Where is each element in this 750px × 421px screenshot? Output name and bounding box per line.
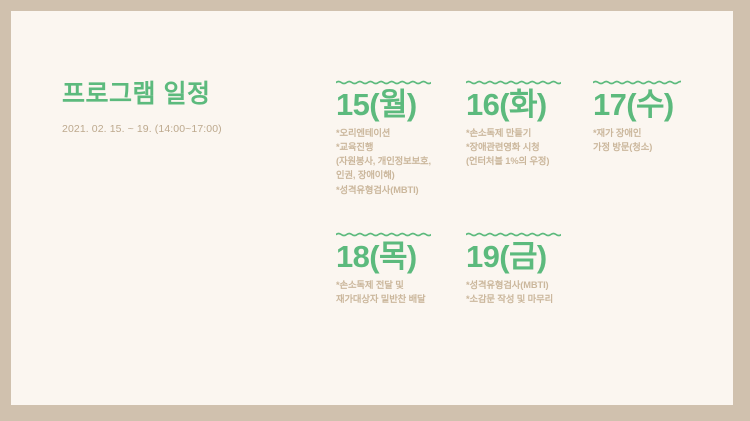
day-activity-list: *재가 장애인가정 방문(청소) [593, 126, 681, 154]
day-heading: 19(금) [466, 240, 561, 275]
day-activity-list: *오리엔테이션*교육진행(자원봉사, 개인정보보호,인권, 장애이해)*성격유형… [336, 126, 431, 197]
wave-divider-icon [466, 78, 561, 87]
slide-canvas: 프로그램 일정 2021. 02. 15. ~ 19. (14:00~17:00… [0, 0, 750, 421]
wave-divider-icon [466, 230, 561, 239]
day-activity-list: *성격유형검사(MBTI)*소감문 작성 및 마무리 [466, 278, 561, 306]
day-heading: 15(월) [336, 88, 431, 123]
day-heading: 18(목) [336, 240, 431, 275]
day-activity-line: *재가 장애인 [593, 126, 681, 140]
day-activity-line: (언터처블 1%의 우정) [466, 154, 561, 168]
day-heading: 17(수) [593, 88, 681, 123]
day-card-19: 19(금) *성격유형검사(MBTI)*소감문 작성 및 마무리 [466, 230, 561, 306]
day-card-17: 17(수) *재가 장애인가정 방문(청소) [593, 78, 681, 154]
day-activity-line: 인권, 장애이해) [336, 168, 431, 182]
day-activity-line: *장애관련영화 시청 [466, 140, 561, 154]
wave-divider-icon [336, 78, 431, 87]
day-card-18: 18(목) *손소독제 전달 및재가대상자 밑반찬 배달 [336, 230, 431, 306]
day-activity-line: *손소독제 전달 및 [336, 278, 431, 292]
wave-divider-icon [336, 230, 431, 239]
schedule-grid: 15(월) *오리엔테이션*교육진행(자원봉사, 개인정보보호,인권, 장애이해… [11, 11, 733, 405]
day-card-15: 15(월) *오리엔테이션*교육진행(자원봉사, 개인정보보호,인권, 장애이해… [336, 78, 431, 197]
wave-divider-icon [593, 78, 681, 87]
day-activity-line: 재가대상자 밑반찬 배달 [336, 292, 431, 306]
day-activity-line: *성격유형검사(MBTI) [466, 278, 561, 292]
day-activity-list: *손소독제 전달 및재가대상자 밑반찬 배달 [336, 278, 431, 306]
day-activity-line: *소감문 작성 및 마무리 [466, 292, 561, 306]
day-heading: 16(화) [466, 88, 561, 123]
day-activity-list: *손소독제 만들기*장애관련영화 시청(언터처블 1%의 우정) [466, 126, 561, 169]
day-activity-line: *성격유형검사(MBTI) [336, 183, 431, 197]
day-card-16: 16(화) *손소독제 만들기*장애관련영화 시청(언터처블 1%의 우정) [466, 78, 561, 168]
day-activity-line: *오리엔테이션 [336, 126, 431, 140]
day-activity-line: (자원봉사, 개인정보보호, [336, 154, 431, 168]
slide-inner-panel: 프로그램 일정 2021. 02. 15. ~ 19. (14:00~17:00… [11, 11, 733, 405]
day-activity-line: *손소독제 만들기 [466, 126, 561, 140]
day-activity-line: 가정 방문(청소) [593, 140, 681, 154]
day-activity-line: *교육진행 [336, 140, 431, 154]
